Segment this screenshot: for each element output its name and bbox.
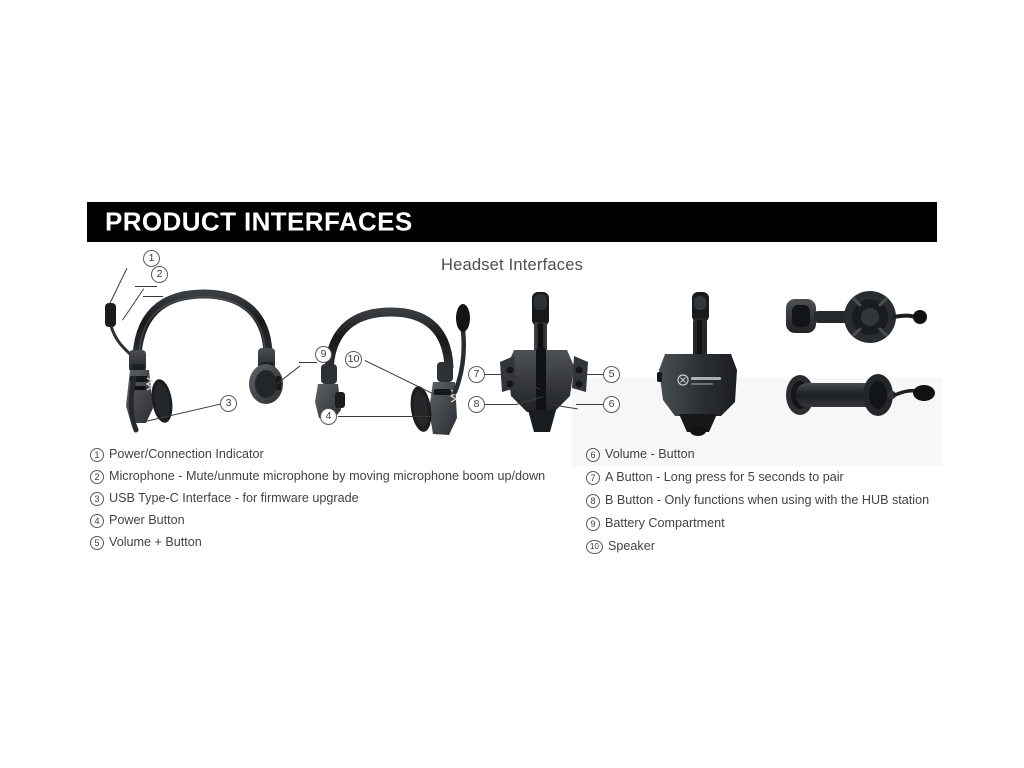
callout-marker-9[interactable]: 9	[315, 346, 332, 363]
leader-line-2b	[143, 296, 163, 297]
legend-column-left: 1 Power/Connection Indicator 2 Microphon…	[90, 447, 560, 557]
figure-headset-top-view	[782, 285, 927, 355]
legend-label-10: Speaker	[608, 539, 986, 554]
legend-item-1: 1 Power/Connection Indicator	[90, 447, 560, 462]
figure-headset-front-left-view: 1 2 3 9	[100, 258, 300, 433]
figure-headset-folded-view	[782, 365, 937, 425]
product-figures-area: 1 2 3 9	[0, 280, 1024, 445]
figure-headset-earcup-controls-view: 7 8 5 6	[470, 292, 620, 437]
headset-earcup-controls-illustration	[470, 292, 620, 437]
legend-label-6: Volume - Button	[605, 447, 986, 462]
legend-label-8: B Button - Only functions when using wit…	[605, 493, 986, 508]
legend-label-1: Power/Connection Indicator	[109, 447, 560, 462]
page-title: PRODUCT INTERFACES	[105, 207, 413, 238]
headset-front-left-illustration	[100, 258, 300, 433]
leader-line-5	[576, 374, 606, 375]
callout-marker-1[interactable]: 1	[143, 250, 160, 267]
legend-number-1: 1	[90, 448, 104, 462]
leader-line-1b	[135, 286, 157, 287]
section-header-bar: PRODUCT INTERFACES	[87, 202, 937, 242]
legend-number-9: 9	[586, 517, 600, 531]
legend-item-3: 3 USB Type-C Interface - for firmware up…	[90, 491, 560, 506]
figure-headset-earcup-logo-view	[645, 292, 765, 437]
interface-legend: 1 Power/Connection Indicator 2 Microphon…	[0, 447, 1024, 577]
legend-number-8: 8	[586, 494, 600, 508]
leader-line-4	[338, 416, 433, 417]
legend-label-5: Volume + Button	[109, 535, 560, 550]
legend-number-7: 7	[586, 471, 600, 485]
callout-marker-2[interactable]: 2	[151, 266, 168, 283]
legend-item-2: 2 Microphone - Mute/unmute microphone by…	[90, 469, 560, 484]
legend-number-5: 5	[90, 536, 104, 550]
headset-top-illustration	[782, 285, 927, 355]
callout-marker-3[interactable]: 3	[220, 395, 237, 412]
legend-number-4: 4	[90, 514, 104, 528]
legend-number-3: 3	[90, 492, 104, 506]
legend-item-7: 7 A Button - Long press for 5 seconds to…	[586, 470, 986, 485]
figure-headset-boom-up-view: 10 4	[305, 292, 470, 437]
legend-number-6: 6	[586, 448, 600, 462]
legend-item-9: 9 Battery Compartment	[586, 516, 986, 531]
legend-number-2: 2	[90, 470, 104, 484]
callout-marker-8[interactable]: 8	[468, 396, 485, 413]
leader-line-9b	[299, 362, 317, 363]
callout-marker-4[interactable]: 4	[320, 408, 337, 425]
legend-item-8: 8 B Button - Only functions when using w…	[586, 493, 986, 508]
legend-number-10: 10	[586, 540, 603, 554]
legend-label-2: Microphone - Mute/unmute microphone by m…	[109, 469, 560, 484]
callout-marker-10[interactable]: 10	[345, 351, 362, 368]
legend-column-right: 6 Volume - Button 7 A Button - Long pres…	[586, 447, 986, 562]
leader-line-7	[485, 374, 515, 375]
legend-label-9: Battery Compartment	[605, 516, 986, 531]
headset-folded-illustration	[782, 365, 937, 425]
legend-item-10: 10 Speaker	[586, 539, 986, 554]
legend-item-5: 5 Volume + Button	[90, 535, 560, 550]
legend-label-7: A Button - Long press for 5 seconds to p…	[605, 470, 986, 485]
headset-earcup-logo-illustration	[645, 292, 765, 437]
legend-item-6: 6 Volume - Button	[586, 447, 986, 462]
legend-label-3: USB Type-C Interface - for firmware upgr…	[109, 491, 560, 506]
callout-marker-5[interactable]: 5	[603, 366, 620, 383]
callout-marker-7[interactable]: 7	[468, 366, 485, 383]
leader-line-8	[485, 404, 517, 405]
leader-line-6	[576, 404, 606, 405]
legend-label-4: Power Button	[109, 513, 560, 528]
legend-item-4: 4 Power Button	[90, 513, 560, 528]
callout-marker-6[interactable]: 6	[603, 396, 620, 413]
